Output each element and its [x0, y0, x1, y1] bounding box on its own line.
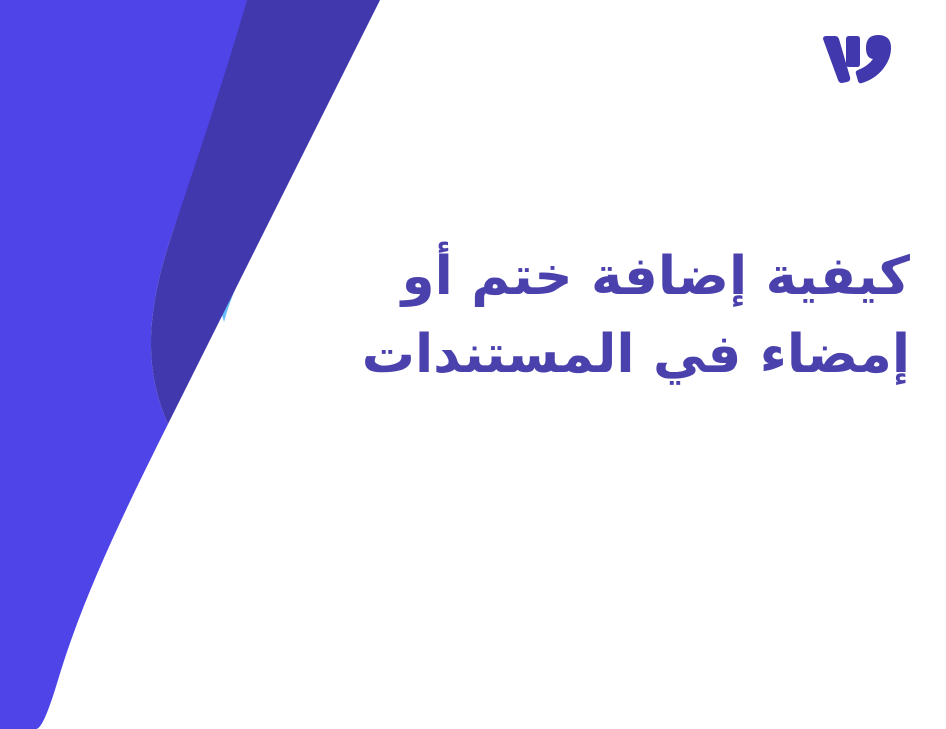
cover-canvas: كيفية إضافة ختم أو إمضاء في المستندات	[0, 0, 946, 729]
wamda-w-logo-icon	[820, 33, 894, 87]
title-line-1: كيفية إضافة ختم أو	[120, 238, 910, 316]
page-title: كيفية إضافة ختم أو إمضاء في المستندات	[120, 238, 910, 395]
logo-stroke-middle	[846, 36, 860, 67]
logo-comma-tail	[856, 35, 891, 83]
title-line-2: إمضاء في المستندات	[120, 316, 910, 394]
